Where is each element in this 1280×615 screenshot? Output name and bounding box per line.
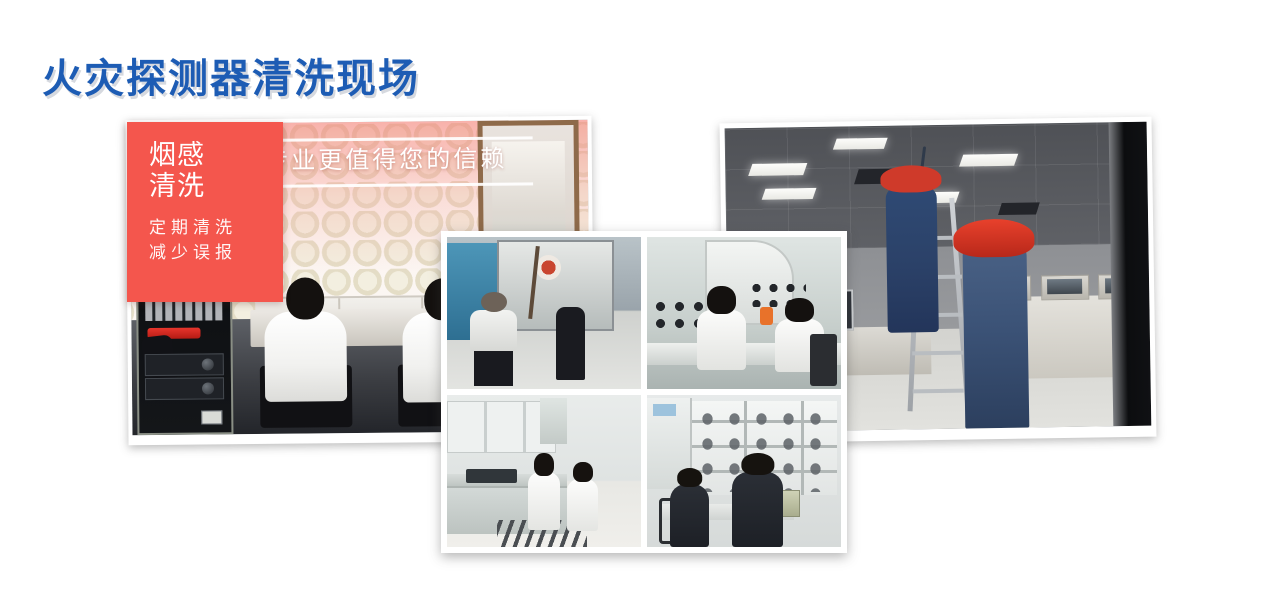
collage-tile-shelving-workstation[interactable] bbox=[647, 395, 841, 547]
ladder-step-5 bbox=[912, 389, 964, 394]
shirt bbox=[470, 310, 517, 351]
rack-panel-upper bbox=[145, 354, 225, 376]
promo-panel[interactable]: 烟感 清洗 定期清洗 减少误报 bbox=[127, 122, 283, 302]
collage-tile-lab-washing[interactable] bbox=[447, 395, 641, 547]
uniform bbox=[670, 484, 709, 547]
lab-coat bbox=[528, 472, 559, 530]
collage-tile-test-bench[interactable] bbox=[647, 237, 841, 389]
technician-assisting bbox=[567, 462, 598, 541]
head bbox=[677, 468, 703, 487]
ceiling-light-3 bbox=[833, 138, 887, 149]
ceiling-vent-2 bbox=[998, 202, 1040, 215]
head bbox=[573, 462, 593, 483]
technician-left bbox=[697, 286, 746, 386]
console-cabinet-2 bbox=[1041, 275, 1089, 301]
rack-dial-upper bbox=[201, 358, 213, 370]
ceiling-light-4 bbox=[959, 154, 1018, 167]
orange-tool bbox=[760, 307, 774, 325]
worker-cap bbox=[881, 165, 942, 192]
rack-dial-lower bbox=[202, 382, 214, 394]
inspector-foreground bbox=[470, 292, 517, 386]
red-hard-hat bbox=[954, 218, 1036, 257]
worker-with-hard-hat bbox=[963, 239, 1029, 428]
collage-tile-corridor-inspection[interactable] bbox=[447, 237, 641, 389]
chair bbox=[810, 334, 837, 386]
equipment-rack bbox=[136, 279, 234, 435]
ladder-step-4 bbox=[912, 351, 964, 356]
rack-panel-lower bbox=[145, 378, 225, 400]
trousers bbox=[474, 348, 513, 386]
rack-display bbox=[201, 411, 222, 425]
worker-seated-left bbox=[670, 468, 709, 547]
center-collage-card[interactable] bbox=[441, 231, 847, 553]
head bbox=[286, 277, 324, 319]
worker-background bbox=[556, 307, 585, 380]
lab-coat bbox=[265, 311, 348, 402]
technician-washing bbox=[528, 453, 559, 541]
tall-cabinet bbox=[540, 398, 567, 444]
promo-subline: 定期清洗 减少误报 bbox=[149, 215, 267, 266]
lab-coat bbox=[697, 310, 746, 370]
worker-on-ladder bbox=[886, 186, 939, 333]
worker-seated-right bbox=[732, 453, 782, 547]
uniform bbox=[732, 472, 782, 547]
head bbox=[707, 286, 736, 314]
wash-sink bbox=[466, 469, 516, 483]
ceiling-light-2 bbox=[762, 188, 816, 199]
head bbox=[481, 292, 507, 313]
ceiling-light-1 bbox=[748, 164, 807, 177]
head bbox=[534, 453, 554, 476]
promo-headline: 烟感 清洗 bbox=[149, 140, 267, 203]
head bbox=[741, 453, 774, 476]
photo-collage: 因为专业更值得您的信赖 烟感 清洗 定期清洗 减少误报 bbox=[0, 0, 1280, 615]
head bbox=[785, 298, 814, 323]
lab-coat bbox=[567, 479, 598, 531]
dark-door-edge bbox=[1109, 122, 1152, 427]
collage-grid bbox=[447, 237, 841, 547]
shelf-label bbox=[653, 404, 676, 416]
